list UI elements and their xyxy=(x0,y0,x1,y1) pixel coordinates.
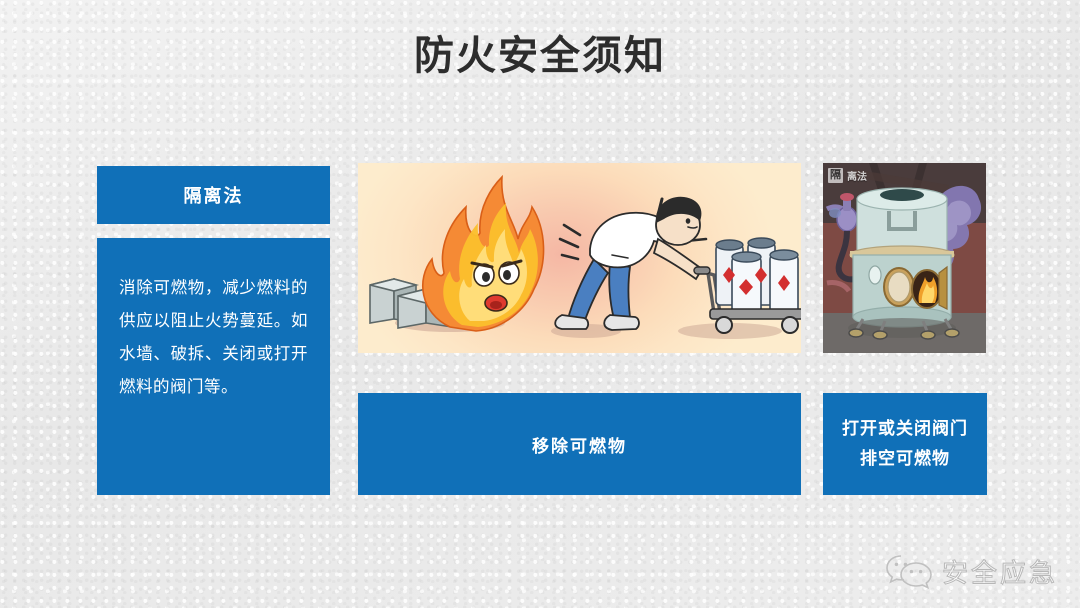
left-panel-body: 消除可燃物，减少燃料的供应以阻止火势蔓延。如水墙、破拆、关闭或打开燃料的阀门等。 xyxy=(97,238,330,495)
left-panel-header-label: 隔离法 xyxy=(184,182,244,208)
brand-watermark-text: 安全应急 xyxy=(942,553,1058,590)
center-illustration-artwork xyxy=(358,163,801,353)
right-panel-caption: 打开或关闭阀门 排空可燃物 xyxy=(823,393,987,495)
angry-fire-icon xyxy=(423,177,544,331)
center-panel-caption-label: 移除可燃物 xyxy=(532,432,627,457)
page-title: 防火安全须知 xyxy=(0,34,1080,78)
worker-pushing-cart-icon xyxy=(555,197,801,333)
left-panel-body-text: 消除可燃物，减少燃料的供应以阻止火势蔓延。如水墙、破拆、关闭或打开燃料的阀门等。 xyxy=(119,272,308,404)
wechat-icon xyxy=(886,552,932,590)
center-panel-caption: 移除可燃物 xyxy=(358,393,801,495)
right-panel-caption-line2: 排空可燃物 xyxy=(860,444,950,474)
brand-watermark: 安全应急 xyxy=(886,552,1058,590)
center-illustration xyxy=(358,163,801,353)
right-illustration-artwork xyxy=(823,163,986,353)
right-panel-caption-line1: 打开或关闭阀门 xyxy=(842,414,968,444)
boiler-tank-icon xyxy=(850,188,954,327)
slide-canvas: 防火安全须知 隔离法 消除可燃物，减少燃料的供应以阻止火势蔓延。如水墙、破拆、关… xyxy=(0,0,1080,608)
right-illustration: 隔 离法 xyxy=(823,163,986,353)
left-panel-header: 隔离法 xyxy=(97,166,330,224)
